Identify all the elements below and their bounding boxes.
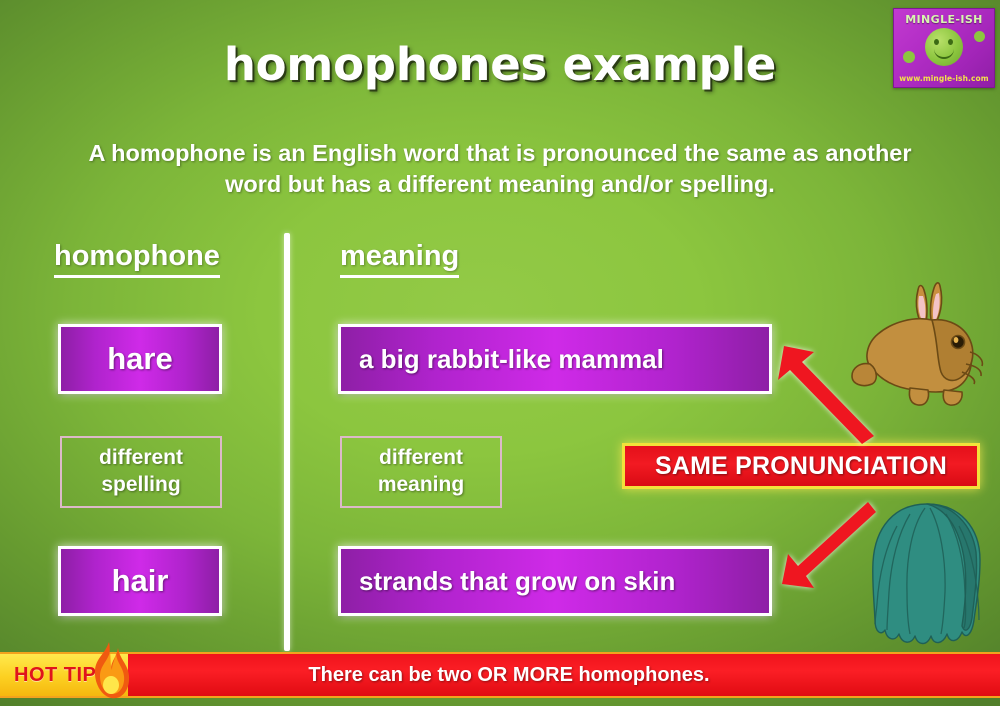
- flame-icon: [86, 642, 132, 700]
- logo-brand-text: MINGLE-ISH: [894, 13, 994, 26]
- note-spelling-line1: different: [99, 445, 183, 472]
- meaning-box-hair[interactable]: strands that grow on skin: [338, 546, 772, 616]
- note-meaning-line2: meaning: [378, 472, 464, 499]
- hot-tip-label: HOT TIP: [14, 664, 96, 687]
- definition-text: A homophone is an English word that is p…: [58, 138, 942, 201]
- page-title: homophones example: [0, 38, 1000, 91]
- note-box-different-spelling: different spelling: [60, 436, 222, 508]
- hot-tip-message: There can be two OR MORE homophones.: [128, 664, 1000, 687]
- note-box-different-meaning: different meaning: [340, 436, 502, 508]
- column-header-homophone: homophone: [54, 240, 220, 278]
- hot-tip-banner: HOT TIP There can be two OR MORE homopho…: [0, 652, 1000, 698]
- word-box-hare[interactable]: hare: [58, 324, 222, 394]
- column-header-meaning: meaning: [340, 240, 459, 278]
- arrow-down-left-icon: [776, 500, 876, 592]
- note-spelling-line2: spelling: [101, 472, 180, 499]
- same-pronunciation-badge: SAME PRONUNCIATION: [622, 443, 980, 489]
- note-meaning-line1: different: [379, 445, 463, 472]
- meaning-box-hare[interactable]: a big rabbit-like mammal: [338, 324, 772, 394]
- hot-tip-chip: HOT TIP: [0, 654, 128, 696]
- rabbit-illustration: [848, 272, 998, 412]
- infographic-canvas: MINGLE-ISH www.mingle-ish.com homophones…: [0, 0, 1000, 706]
- column-divider: [284, 233, 290, 651]
- word-box-hair[interactable]: hair: [58, 546, 222, 616]
- hair-illustration: [862, 500, 992, 652]
